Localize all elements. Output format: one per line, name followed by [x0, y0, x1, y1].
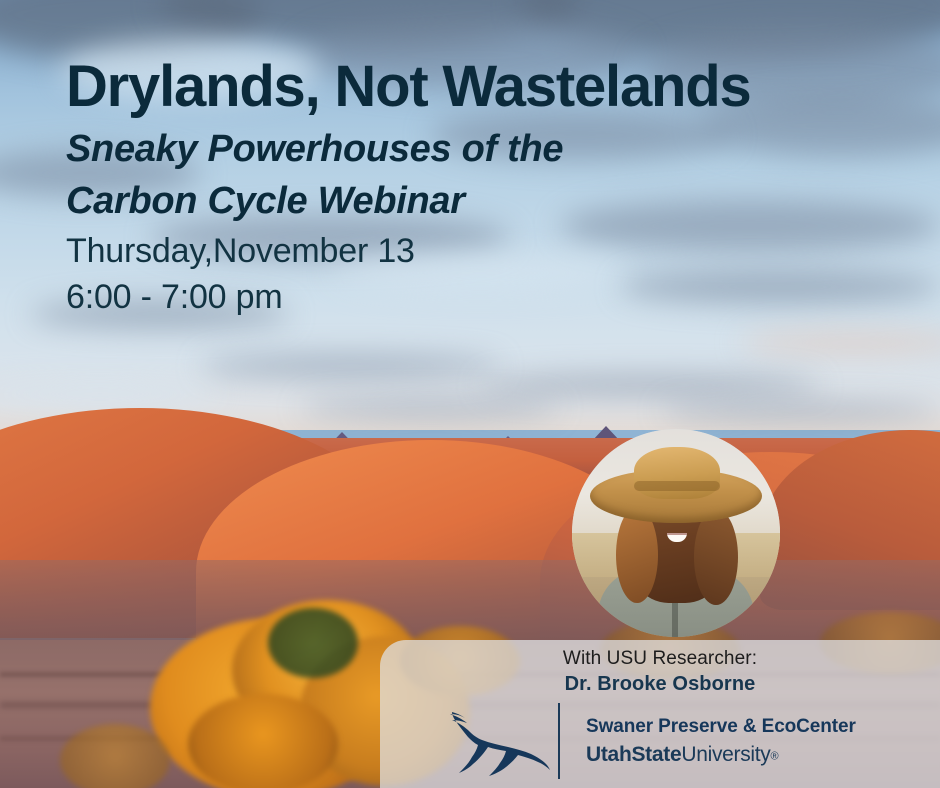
- subtitle-line-2: Carbon Cycle Webinar: [66, 175, 886, 227]
- shrub-dark-green: [268, 608, 358, 678]
- cloud-shape: [480, 375, 820, 395]
- info-panel: With USU Researcher: Dr. Brooke Osborne …: [380, 640, 940, 788]
- university-name-regular: University: [681, 743, 770, 766]
- event-time: 6:00 - 7:00 pm: [66, 274, 886, 321]
- poster-canvas: Drylands, Not Wastelands Sneaky Powerhou…: [0, 0, 940, 788]
- page-title: Drylands, Not Wastelands: [66, 56, 886, 119]
- university-name-bold: UtahState: [586, 743, 681, 766]
- subtitle-line-1: Sneaky Powerhouses of the: [66, 123, 886, 175]
- flying-crane-icon: [446, 702, 554, 780]
- with-researcher-label: With USU Researcher:: [380, 648, 940, 670]
- registered-trademark-icon: ®: [771, 750, 779, 762]
- headline-text-block: Drylands, Not Wastelands Sneaky Powerhou…: [66, 56, 886, 321]
- cloud-shape: [200, 355, 500, 377]
- avatar: [572, 429, 780, 637]
- logo-divider: [558, 703, 560, 779]
- organization-name: Swaner Preserve & EcoCenter: [586, 713, 856, 741]
- shrub-cluster: [188, 694, 338, 788]
- portrait-hat-band: [634, 481, 720, 491]
- university-name: UtahStateUniversity®: [586, 741, 856, 769]
- event-date: Thursday,November 13: [66, 228, 886, 275]
- portrait-hat-crown: [634, 447, 720, 499]
- presenter-name: Dr. Brooke Osborne: [380, 673, 940, 696]
- shrub-cluster: [60, 724, 170, 788]
- usu-logo-lockup: Swaner Preserve & EcoCenter UtahStateUni…: [446, 702, 856, 780]
